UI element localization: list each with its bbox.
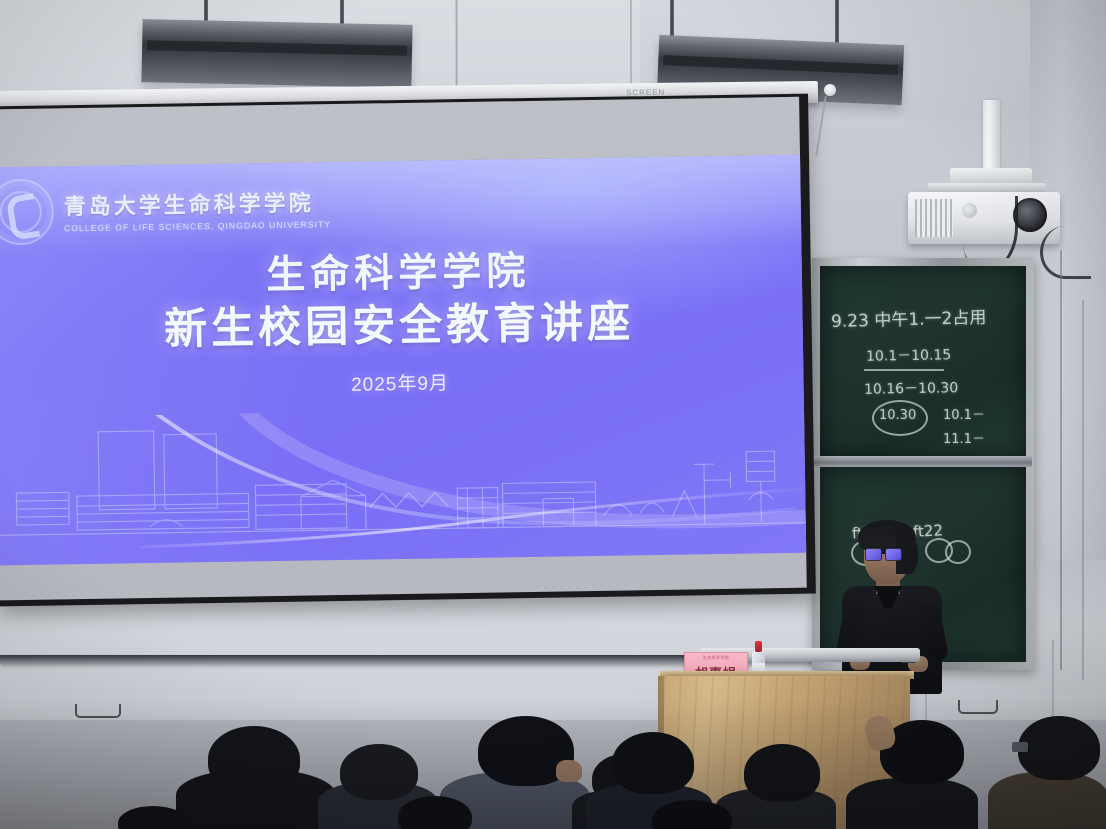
- blackboard-underline: [864, 369, 944, 371]
- projection-screen: 青岛大学生命科学学院 COLLEGE OF LIFE SCIENCES, QIN…: [0, 94, 816, 607]
- slide-logo: 青岛大学生命科学学院 COLLEGE OF LIFE SCIENCES, QIN…: [0, 174, 331, 245]
- rail-hook-icon: [958, 700, 998, 714]
- speaker-presenter: [838, 524, 948, 694]
- slide-logo-en: COLLEGE OF LIFE SCIENCES, QINGDAO UNIVER…: [64, 219, 331, 233]
- lecture-hall-photo: 9.23 中午1.一2占用 10.1－10.15 10.16－10.30 10.…: [0, 0, 1106, 829]
- audience-glasses-icon: [1012, 742, 1028, 752]
- blackboard-text-line-6: 11.1－: [943, 428, 985, 447]
- audience-head: [1018, 716, 1100, 780]
- audience-hand: [556, 760, 582, 782]
- blackboard-text-line-2: 10.1－10.15: [866, 344, 952, 365]
- slide-logo-cn: 青岛大学生命科学学院: [63, 185, 331, 221]
- blackboard-text-line-3: 10.16－10.30: [864, 377, 959, 399]
- slide-title-line2: 新生校园安全教育讲座: [0, 293, 803, 362]
- light-rod: [340, 0, 344, 24]
- rail-hook-icon: [75, 704, 121, 718]
- presentation-slide: 青岛大学生命科学学院 COLLEGE OF LIFE SCIENCES, QIN…: [0, 155, 806, 566]
- blackboard-text-line-5: 10.1－: [943, 404, 985, 423]
- screen-bracket: [824, 84, 836, 96]
- wall-cable: [1082, 300, 1084, 680]
- slide-swoosh-decoration: [0, 405, 806, 558]
- blackboard-divider: [814, 456, 1032, 467]
- slide-date: 2025年9月: [0, 363, 804, 403]
- slide-title-block: 生命科学学院 新生校园安全教育讲座 2025年9月: [0, 243, 804, 402]
- audience-head: [744, 744, 820, 802]
- wall-cable: [1060, 250, 1062, 670]
- audience-head: [612, 732, 694, 794]
- audience-member: [988, 772, 1106, 829]
- name-card-header: 生命科学学院: [685, 655, 747, 661]
- projector-mount-plate: [950, 168, 1032, 184]
- ceiling-light-fixture: [141, 19, 412, 88]
- qingdao-university-emblem-icon: [0, 178, 54, 245]
- blackboard-circle-annotation: [945, 540, 971, 564]
- projector-cable: [1040, 226, 1091, 279]
- glasses-icon: [865, 548, 901, 559]
- audience-member: [846, 778, 978, 829]
- blackboard-text-line-1: 9.23 中午1.一2占用: [831, 303, 987, 332]
- audience-head: [340, 744, 418, 800]
- blackboard-circle-annotation: [872, 400, 928, 436]
- audience-head: [208, 726, 300, 792]
- projector-vent-icon: [915, 199, 953, 237]
- screen-surface: 青岛大学生命科学学院 COLLEGE OF LIFE SCIENCES, QIN…: [0, 97, 807, 601]
- light-rod: [835, 0, 839, 46]
- projector-lens-icon: [1013, 198, 1047, 232]
